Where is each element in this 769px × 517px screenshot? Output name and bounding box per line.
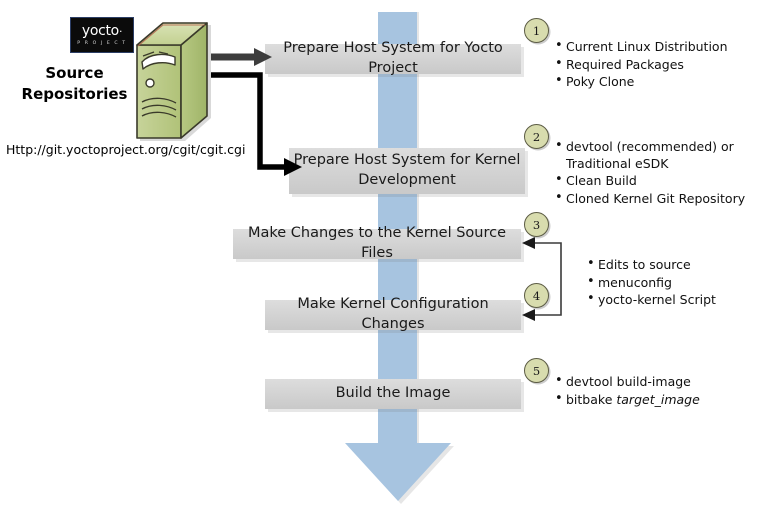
connector-server-to-step2-arrow [208,70,304,180]
step-box-4[interactable]: Make Kernel Configuration Changes [265,300,521,330]
diagram-canvas: yocto· P R O J E C T [0,0,769,517]
step-number-badge-5: 5 [524,358,549,383]
list-item-emphasis: target_image [616,392,699,407]
list-item: yocto-kernel Script [598,292,764,309]
flow-arrow-head-icon [345,443,451,501]
list-item: Edits to source [598,257,764,274]
step-number-badge-4: 4 [524,283,549,308]
connector-step3-step4-bracket [519,236,581,322]
step-box-2-label: Prepare Host System for Kernel Developme… [289,151,525,190]
list-item-text: bitbake [566,392,616,407]
list-item: bitbake target_image [566,392,762,409]
step-box-3-label: Make Changes to the Kernel Source Files [233,224,521,263]
step-box-3[interactable]: Make Changes to the Kernel Source Files [233,229,521,259]
list-item: devtool build-image [566,374,762,391]
step-box-5[interactable]: Build the Image [265,379,521,409]
list-item: Required Packages [566,57,762,74]
step-number-2-text: 2 [533,130,540,144]
step-number-3-text: 3 [533,218,540,232]
yocto-logo-subtext: P R O J E C T [77,40,126,47]
step-number-badge-3: 3 [524,212,549,237]
yocto-logo-dot: · [119,25,122,38]
list-item: Cloned Kernel Git Repository [566,191,762,208]
list-item: menuconfig [598,275,764,292]
list-item: Poky Clone [566,74,762,91]
source-repositories-label: Source Repositories [12,63,137,105]
yocto-logo-wordmark: yocto· [82,24,122,39]
connector-server-to-step1-arrow [208,44,274,70]
step-number-4-text: 4 [533,289,540,303]
step-1-bullet-list: Current Linux Distribution Required Pack… [552,39,762,92]
source-label-line1: Source [12,63,137,84]
list-item: Clean Build [566,173,762,190]
source-label-line2: Repositories [12,84,137,105]
server-icon [135,22,213,144]
list-item: devtool (recommended) or Traditional eSD… [566,139,762,172]
step-number-1-text: 1 [533,24,540,38]
yocto-project-logo: yocto· P R O J E C T [70,17,134,53]
yocto-logo-text: yocto [82,23,119,39]
step-3-4-bullet-list: Edits to source menuconfig yocto-kernel … [584,257,764,310]
step-box-2[interactable]: Prepare Host System for Kernel Developme… [289,148,525,194]
step-2-bullet-list: devtool (recommended) or Traditional eSD… [552,139,762,208]
step-5-bullet-list: devtool build-image bitbake target_image [552,374,762,409]
step-box-5-label: Build the Image [336,384,451,404]
step-number-5-text: 5 [533,364,540,378]
step-box-4-label: Make Kernel Configuration Changes [265,295,521,334]
step-number-badge-1: 1 [524,18,549,43]
step-number-badge-2: 2 [524,124,549,149]
list-item: Current Linux Distribution [566,39,762,56]
